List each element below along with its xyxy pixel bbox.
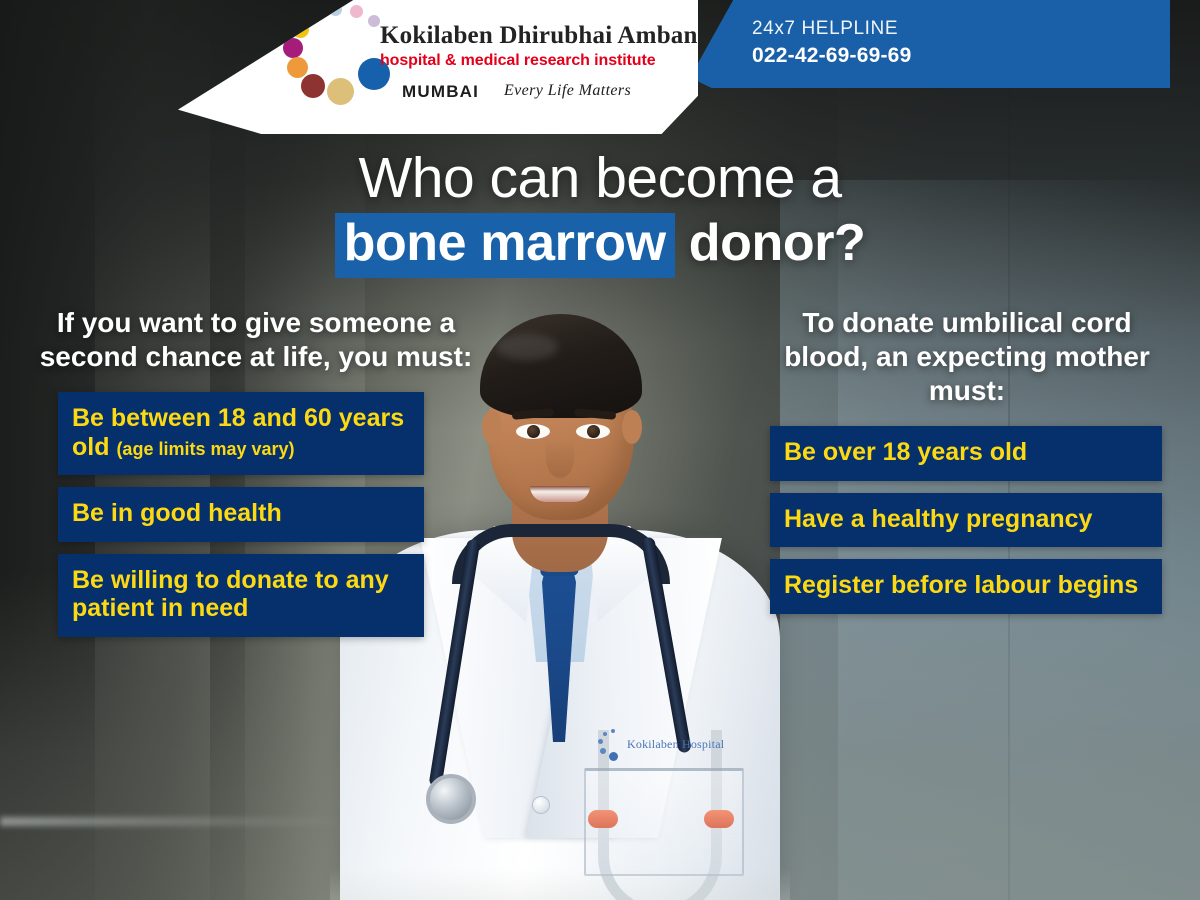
doctor-nose xyxy=(546,440,574,478)
bullet-item: Be between 18 and 60 years old (age limi… xyxy=(58,392,424,475)
infographic-canvas: Kokilaben Hospital Kokilaben Dhirubhai A… xyxy=(0,0,1200,900)
bullet-note: (age limits may vary) xyxy=(116,439,294,459)
right-column: To donate umbilical cord blood, an expec… xyxy=(752,306,1182,614)
stethoscope-chestpiece xyxy=(426,774,476,824)
logo-city: MUMBAI xyxy=(402,82,479,102)
logo-dot xyxy=(327,78,354,105)
hospital-logo[interactable]: Kokilaben Dhirubhai Ambani hospital & me… xyxy=(282,2,642,122)
doctor-smile xyxy=(530,486,590,502)
left-column: If you want to give someone a second cha… xyxy=(18,306,494,637)
coat-logo-text: Kokilaben Hospital xyxy=(627,737,724,752)
doctor-ear-right xyxy=(622,410,642,444)
background-floor-highlight xyxy=(0,817,360,826)
bullet-item: Register before labour begins xyxy=(770,559,1162,614)
doctor-hair xyxy=(480,314,642,418)
left-column-bullets: Be between 18 and 60 years old (age limi… xyxy=(18,392,494,637)
logo-tagline: Every Life Matters xyxy=(504,82,631,100)
bullet-main: Be willing to donate to any patient in n… xyxy=(72,566,389,623)
helpline-label: 24x7 HELPLINE xyxy=(752,16,1170,42)
logo-hospital-subtitle: hospital & medical research institute xyxy=(380,52,656,70)
doctor-eye-right xyxy=(576,424,610,439)
doctor-bottom-fade xyxy=(330,868,790,900)
doctor-coat-pocket xyxy=(584,768,744,876)
headline-highlight: bone marrow xyxy=(335,213,675,278)
bullet-item: Be over 18 years old xyxy=(770,426,1162,481)
bullet-main: Register before labour begins xyxy=(784,571,1138,599)
bullet-item: Have a healthy pregnancy xyxy=(770,493,1162,548)
logo-dot xyxy=(350,5,363,18)
bullet-main: Be in good health xyxy=(72,499,282,527)
headline-line-2-rest: donor? xyxy=(689,214,866,272)
helpline-phone-number[interactable]: 022-42-69-69-69 xyxy=(752,42,1170,70)
logo-dot xyxy=(287,57,308,78)
bullet-main: Have a healthy pregnancy xyxy=(784,505,1092,533)
logo-dot xyxy=(301,74,325,98)
doctor-eye-left xyxy=(516,424,550,439)
helpline-banner[interactable]: 24x7 HELPLINE 022-42-69-69-69 xyxy=(690,0,1170,88)
headline-line-1: Who can become a xyxy=(0,150,1200,207)
bullet-item: Be willing to donate to any patient in n… xyxy=(58,554,424,637)
coat-hospital-logo: Kokilaben Hospital xyxy=(598,724,748,764)
bullet-item: Be in good health xyxy=(58,487,424,542)
headline-line-2: bone marrow donor? xyxy=(0,213,1200,278)
logo-dot xyxy=(368,15,380,27)
right-column-intro: To donate umbilical cord blood, an expec… xyxy=(752,306,1182,408)
left-column-intro: If you want to give someone a second cha… xyxy=(18,306,494,374)
right-column-bullets: Be over 18 years old Have a healthy preg… xyxy=(752,426,1182,614)
bullet-main: Be over 18 years old xyxy=(784,438,1027,466)
coat-logo-dots-icon xyxy=(598,729,624,759)
page-title: Who can become a bone marrow donor? xyxy=(0,150,1200,278)
logo-hospital-name: Kokilaben Dhirubhai Ambani xyxy=(380,22,705,50)
doctor-coat-button xyxy=(532,796,550,814)
